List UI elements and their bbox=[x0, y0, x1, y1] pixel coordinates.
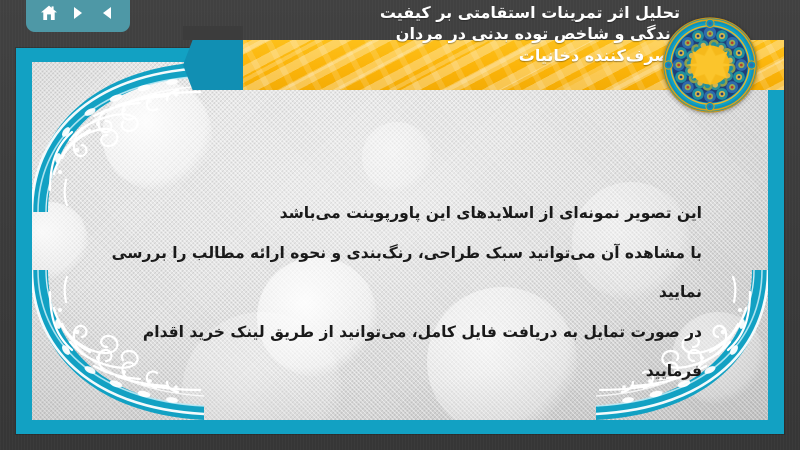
home-button[interactable] bbox=[36, 0, 62, 26]
banner-arrow-icon bbox=[183, 40, 243, 90]
home-icon bbox=[40, 4, 58, 22]
slide-viewer: این تصویر نمونه‌ای از اسلایدهای این پاور… bbox=[0, 0, 800, 450]
slide-nav-bar bbox=[26, 0, 130, 32]
slide-title: تحلیل اثر تمرینات استقامتی بر کیفیت زندگ… bbox=[300, 2, 680, 66]
triangle-left-icon bbox=[99, 5, 115, 21]
slide-body-text: این تصویر نمونه‌ای از اسلایدهای این پاور… bbox=[102, 194, 702, 392]
persian-medallion-icon bbox=[661, 16, 759, 114]
next-slide-button[interactable] bbox=[65, 0, 91, 26]
slide-canvas: این تصویر نمونه‌ای از اسلایدهای این پاور… bbox=[32, 62, 768, 420]
prev-slide-button[interactable] bbox=[94, 0, 120, 26]
banner-connector-shadow bbox=[183, 26, 243, 40]
triangle-right-icon bbox=[70, 5, 86, 21]
